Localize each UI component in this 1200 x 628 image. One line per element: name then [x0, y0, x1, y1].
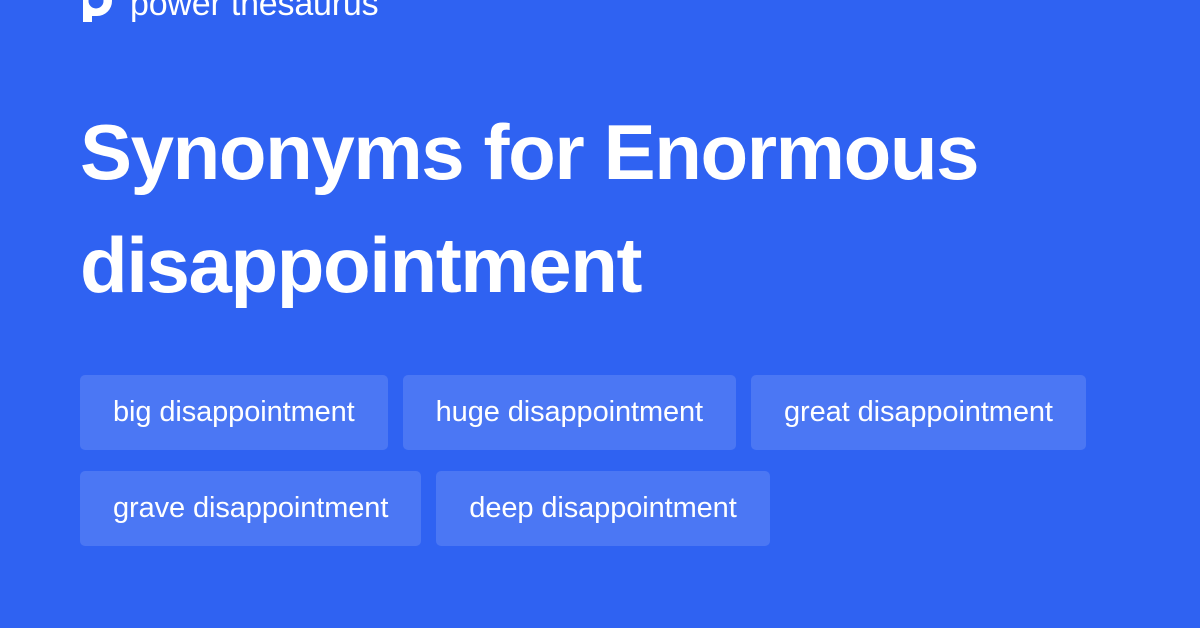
synonym-chip[interactable]: big disappointment: [80, 375, 388, 450]
page-title-line-2: disappointment: [80, 221, 641, 309]
synonym-chip[interactable]: grave disappointment: [80, 471, 421, 546]
page-title: Synonyms for Enormous disappointment: [80, 96, 1090, 322]
synonym-chip[interactable]: huge disappointment: [403, 375, 736, 450]
synonym-chip[interactable]: deep disappointment: [436, 471, 769, 546]
brand-header[interactable]: power thesaurus: [78, 0, 378, 26]
page-title-line-1: Synonyms for Enormous: [80, 108, 978, 196]
synonyms-share-card: power thesaurus Synonyms for Enormous di…: [0, 0, 1200, 628]
synonym-chip[interactable]: great disappointment: [751, 375, 1086, 450]
brand-wordmark: power thesaurus: [130, 0, 378, 24]
power-thesaurus-logo-icon: [78, 0, 112, 22]
synonym-chip-list: big disappointment huge disappointment g…: [80, 375, 1120, 546]
